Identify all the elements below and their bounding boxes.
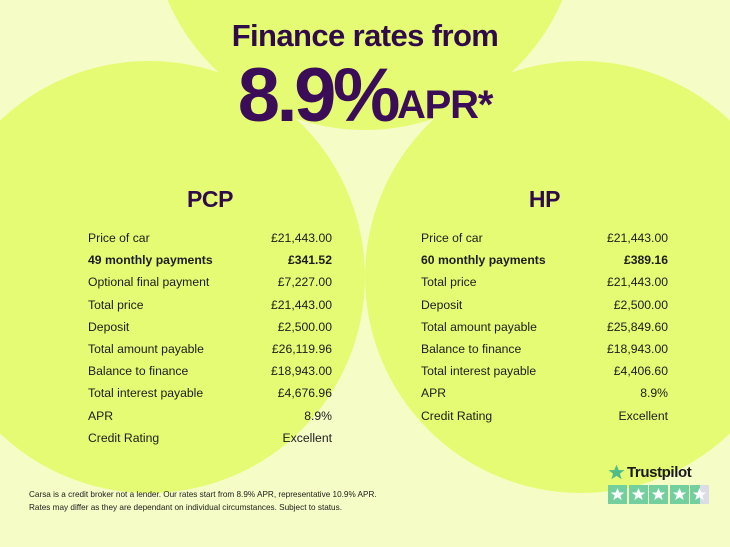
table-row: Balance to finance £18,943.00 (88, 360, 332, 382)
row-label: Credit Rating (421, 405, 492, 427)
plan-pcp-rows: Price of car £21,443.00 49 monthly payme… (88, 227, 332, 449)
finance-comparison-tables: PCP Price of car £21,443.00 49 monthly p… (0, 186, 730, 449)
row-value: £2,500.00 (278, 316, 332, 338)
table-row: Balance to finance £18,943.00 (421, 338, 668, 360)
apr-rate-suffix: APR* (397, 83, 492, 127)
row-value: £4,406.60 (614, 360, 668, 382)
row-label: APR (88, 405, 113, 427)
table-row: Deposit £2,500.00 (421, 294, 668, 316)
row-value: £4,676.96 (278, 382, 332, 404)
row-value: £21,443.00 (271, 294, 332, 316)
row-label: Price of car (421, 227, 483, 249)
row-value: £21,443.00 (607, 271, 668, 293)
trustpilot-name: Trustpilot (627, 465, 691, 480)
row-label: Deposit (88, 316, 129, 338)
finance-rates-banner: Finance rates from 8.9%APR* PCP Price of… (0, 0, 730, 547)
row-value: 8.9% (640, 382, 668, 404)
table-row: Deposit £2,500.00 (88, 316, 332, 338)
row-value: £21,443.00 (607, 227, 668, 249)
row-value: £18,943.00 (607, 338, 668, 360)
row-label: Balance to finance (421, 338, 521, 360)
row-value: £341.52 (288, 249, 332, 271)
table-row: Total amount payable £26,119.96 (88, 338, 332, 360)
row-label: Total interest payable (88, 382, 203, 404)
apr-rate-value: 8.9% (238, 53, 397, 138)
table-row: Optional final payment £7,227.00 (88, 271, 332, 293)
star-icon-5-half (690, 485, 709, 504)
table-row: APR 8.9% (421, 382, 668, 404)
row-label: Total interest payable (421, 360, 536, 382)
table-row: Total interest payable £4,406.60 (421, 360, 668, 382)
page-title: Finance rates from (0, 0, 730, 54)
row-value: £21,443.00 (271, 227, 332, 249)
table-row: 49 monthly payments £341.52 (88, 249, 332, 271)
row-value: 8.9% (304, 405, 332, 427)
apr-headline: 8.9%APR* (0, 54, 730, 134)
row-value: £7,227.00 (278, 271, 332, 293)
row-label: APR (421, 382, 446, 404)
row-label: Credit Rating (88, 427, 159, 449)
table-row: Total amount payable £25,849.60 (421, 316, 668, 338)
row-value: £2,500.00 (614, 294, 668, 316)
table-row: Credit Rating Excellent (421, 405, 668, 427)
table-row: APR 8.9% (88, 405, 332, 427)
row-value: £26,119.96 (272, 338, 332, 360)
row-value: Excellent (283, 427, 332, 449)
row-label: 49 monthly payments (88, 249, 213, 271)
plan-pcp-title: PCP (88, 186, 332, 213)
row-label: 60 monthly payments (421, 249, 546, 271)
row-label: Optional final payment (88, 271, 209, 293)
row-label: Total price (88, 294, 144, 316)
table-row: Price of car £21,443.00 (421, 227, 668, 249)
trustpilot-rating[interactable]: Trustpilot (608, 462, 712, 504)
banner-header: Finance rates from 8.9%APR* (0, 0, 730, 134)
table-row: Total price £21,443.00 (88, 294, 332, 316)
table-row: Total interest payable £4,676.96 (88, 382, 332, 404)
trustpilot-star-icon (608, 464, 625, 481)
star-icon-2 (629, 485, 648, 504)
plan-hp-title: HP (421, 186, 668, 213)
row-label: Total amount payable (421, 316, 537, 338)
row-label: Total price (421, 271, 477, 293)
row-label: Deposit (421, 294, 462, 316)
disclaimer-line-2: Rates may differ as they are dependant o… (29, 502, 449, 515)
plan-hp: HP Price of car £21,443.00 60 monthly pa… (365, 186, 730, 449)
disclaimer-line-1: Carsa is a credit broker not a lender. O… (29, 489, 449, 502)
row-value: £389.16 (624, 249, 668, 271)
table-row: Price of car £21,443.00 (88, 227, 332, 249)
star-icon-3 (649, 485, 668, 504)
disclaimer: Carsa is a credit broker not a lender. O… (29, 489, 449, 514)
row-label: Balance to finance (88, 360, 188, 382)
table-row: 60 monthly payments £389.16 (421, 249, 668, 271)
plan-hp-rows: Price of car £21,443.00 60 monthly payme… (421, 227, 668, 427)
trustpilot-star-rating (608, 485, 712, 504)
table-row: Credit Rating Excellent (88, 427, 332, 449)
row-label: Total amount payable (88, 338, 204, 360)
plan-pcp: PCP Price of car £21,443.00 49 monthly p… (0, 186, 365, 449)
row-value: £18,943.00 (271, 360, 332, 382)
table-row: Total price £21,443.00 (421, 271, 668, 293)
row-value: £25,849.60 (607, 316, 668, 338)
row-value: Excellent (619, 405, 668, 427)
star-icon-4 (670, 485, 689, 504)
row-label: Price of car (88, 227, 150, 249)
trustpilot-wordmark: Trustpilot (608, 462, 712, 482)
star-icon-1 (608, 485, 627, 504)
